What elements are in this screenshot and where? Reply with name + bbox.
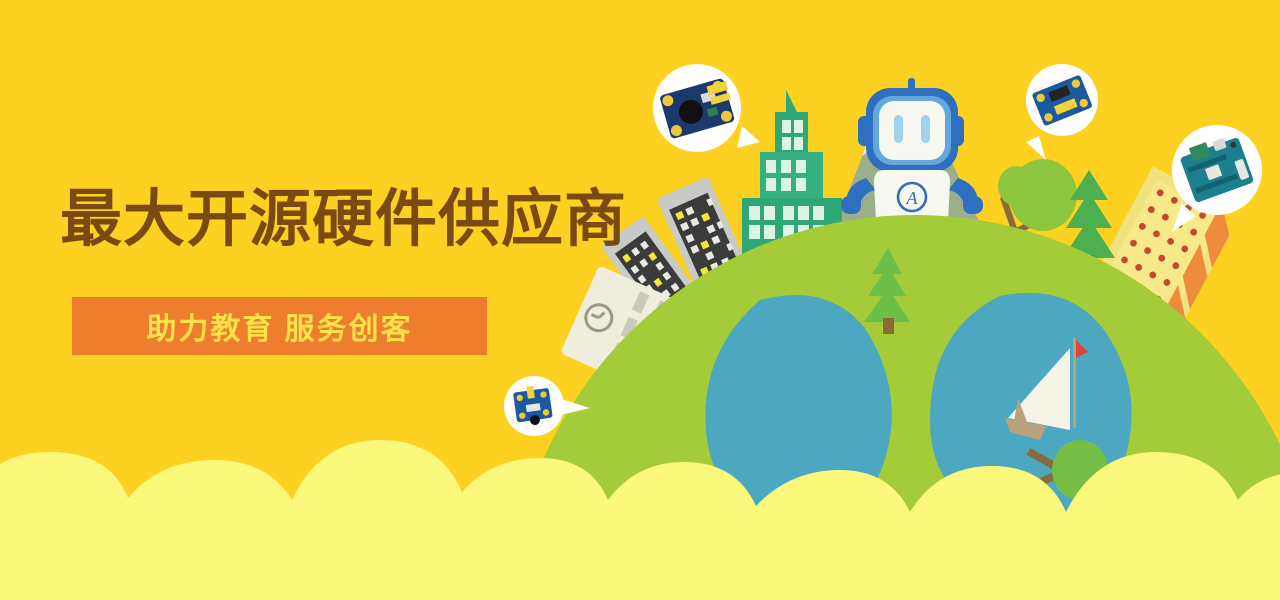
tagline-text: 助力教育 服务创客 [72,297,487,355]
hero-banner: A [0,0,1280,600]
robot-chest-logo: A [906,188,919,208]
banner-copy: 最大开源硬件供应商 助力教育 服务创客 [0,0,660,600]
page-title: 最大开源硬件供应商 [60,187,627,253]
tagline-band: 助力教育 服务创客 [72,297,487,355]
